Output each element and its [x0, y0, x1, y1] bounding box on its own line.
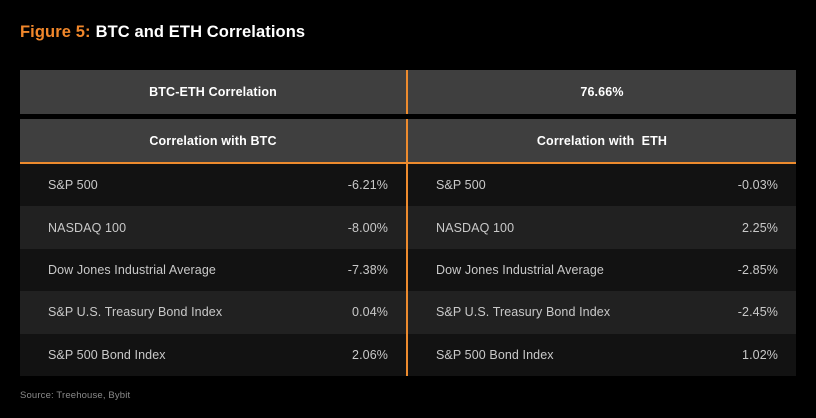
row-label: S&P 500	[436, 178, 486, 192]
row-value: -2.45%	[738, 305, 778, 319]
table-cell-btc: S&P 500 Bond Index 2.06%	[20, 334, 408, 376]
column-header-btc-cell: Correlation with BTC	[20, 119, 408, 162]
row-label: S&P 500 Bond Index	[436, 348, 554, 362]
row-label: S&P U.S. Treasury Bond Index	[48, 305, 222, 319]
row-value: -0.03%	[738, 178, 778, 192]
column-header-eth-cell: Correlation with ETH	[408, 119, 796, 162]
row-value: 2.25%	[742, 221, 778, 235]
column-header-btc-label: Correlation with BTC	[149, 134, 276, 148]
table-cell-btc: S&P U.S. Treasury Bond Index 0.04%	[20, 291, 408, 333]
row-label: S&P U.S. Treasury Bond Index	[436, 305, 610, 319]
table-row: S&P U.S. Treasury Bond Index 0.04% S&P U…	[20, 291, 796, 333]
row-label: Dow Jones Industrial Average	[436, 263, 604, 277]
row-value: -2.85%	[738, 263, 778, 277]
correlation-table-card: BTC-ETH Correlation 76.66% Correlation w…	[20, 70, 796, 374]
table-cell-eth: S&P 500 -0.03%	[408, 164, 796, 206]
figure-root: Figure 5: BTC and ETH Correlations BTC-E…	[0, 0, 816, 418]
summary-header-value-cell: 76.66%	[408, 70, 796, 114]
table-cell-btc: NASDAQ 100 -8.00%	[20, 206, 408, 248]
table-row: NASDAQ 100 -8.00% NASDAQ 100 2.25%	[20, 206, 796, 248]
table-row: S&P 500 Bond Index 2.06% S&P 500 Bond In…	[20, 334, 796, 376]
table-cell-eth: S&P 500 Bond Index 1.02%	[408, 334, 796, 376]
summary-header-label-cell: BTC-ETH Correlation	[20, 70, 408, 114]
column-header-row: Correlation with BTC Correlation with ET…	[20, 119, 796, 162]
row-label: Dow Jones Industrial Average	[48, 263, 216, 277]
figure-title-text: BTC and ETH Correlations	[96, 23, 306, 42]
row-label: S&P 500 Bond Index	[48, 348, 166, 362]
table-row: Dow Jones Industrial Average -7.38% Dow …	[20, 249, 796, 291]
page-title: Figure 5: BTC and ETH Correlations	[20, 20, 305, 44]
column-header-eth-label: Correlation with ETH	[537, 134, 667, 148]
summary-header-value: 76.66%	[580, 85, 623, 99]
figure-number-label: Figure 5:	[20, 23, 91, 42]
row-value: -6.21%	[348, 178, 388, 192]
summary-header-row: BTC-ETH Correlation 76.66%	[20, 70, 796, 114]
summary-header-label: BTC-ETH Correlation	[149, 85, 277, 99]
row-value: -8.00%	[348, 221, 388, 235]
row-value: 1.02%	[742, 348, 778, 362]
table-cell-eth: S&P U.S. Treasury Bond Index -2.45%	[408, 291, 796, 333]
table-cell-eth: Dow Jones Industrial Average -2.85%	[408, 249, 796, 291]
table-cell-btc: S&P 500 -6.21%	[20, 164, 408, 206]
row-value: 2.06%	[352, 348, 388, 362]
row-label: NASDAQ 100	[48, 221, 126, 235]
table-cell-eth: NASDAQ 100 2.25%	[408, 206, 796, 248]
table-body: S&P 500 -6.21% S&P 500 -0.03% NASDAQ 100…	[20, 164, 796, 376]
row-value: 0.04%	[352, 305, 388, 319]
row-value: -7.38%	[348, 263, 388, 277]
row-label: S&P 500	[48, 178, 98, 192]
table-row: S&P 500 -6.21% S&P 500 -0.03%	[20, 164, 796, 206]
table-cell-btc: Dow Jones Industrial Average -7.38%	[20, 249, 408, 291]
row-label: NASDAQ 100	[436, 221, 514, 235]
source-note: Source: Treehouse, Bybit	[20, 390, 130, 401]
